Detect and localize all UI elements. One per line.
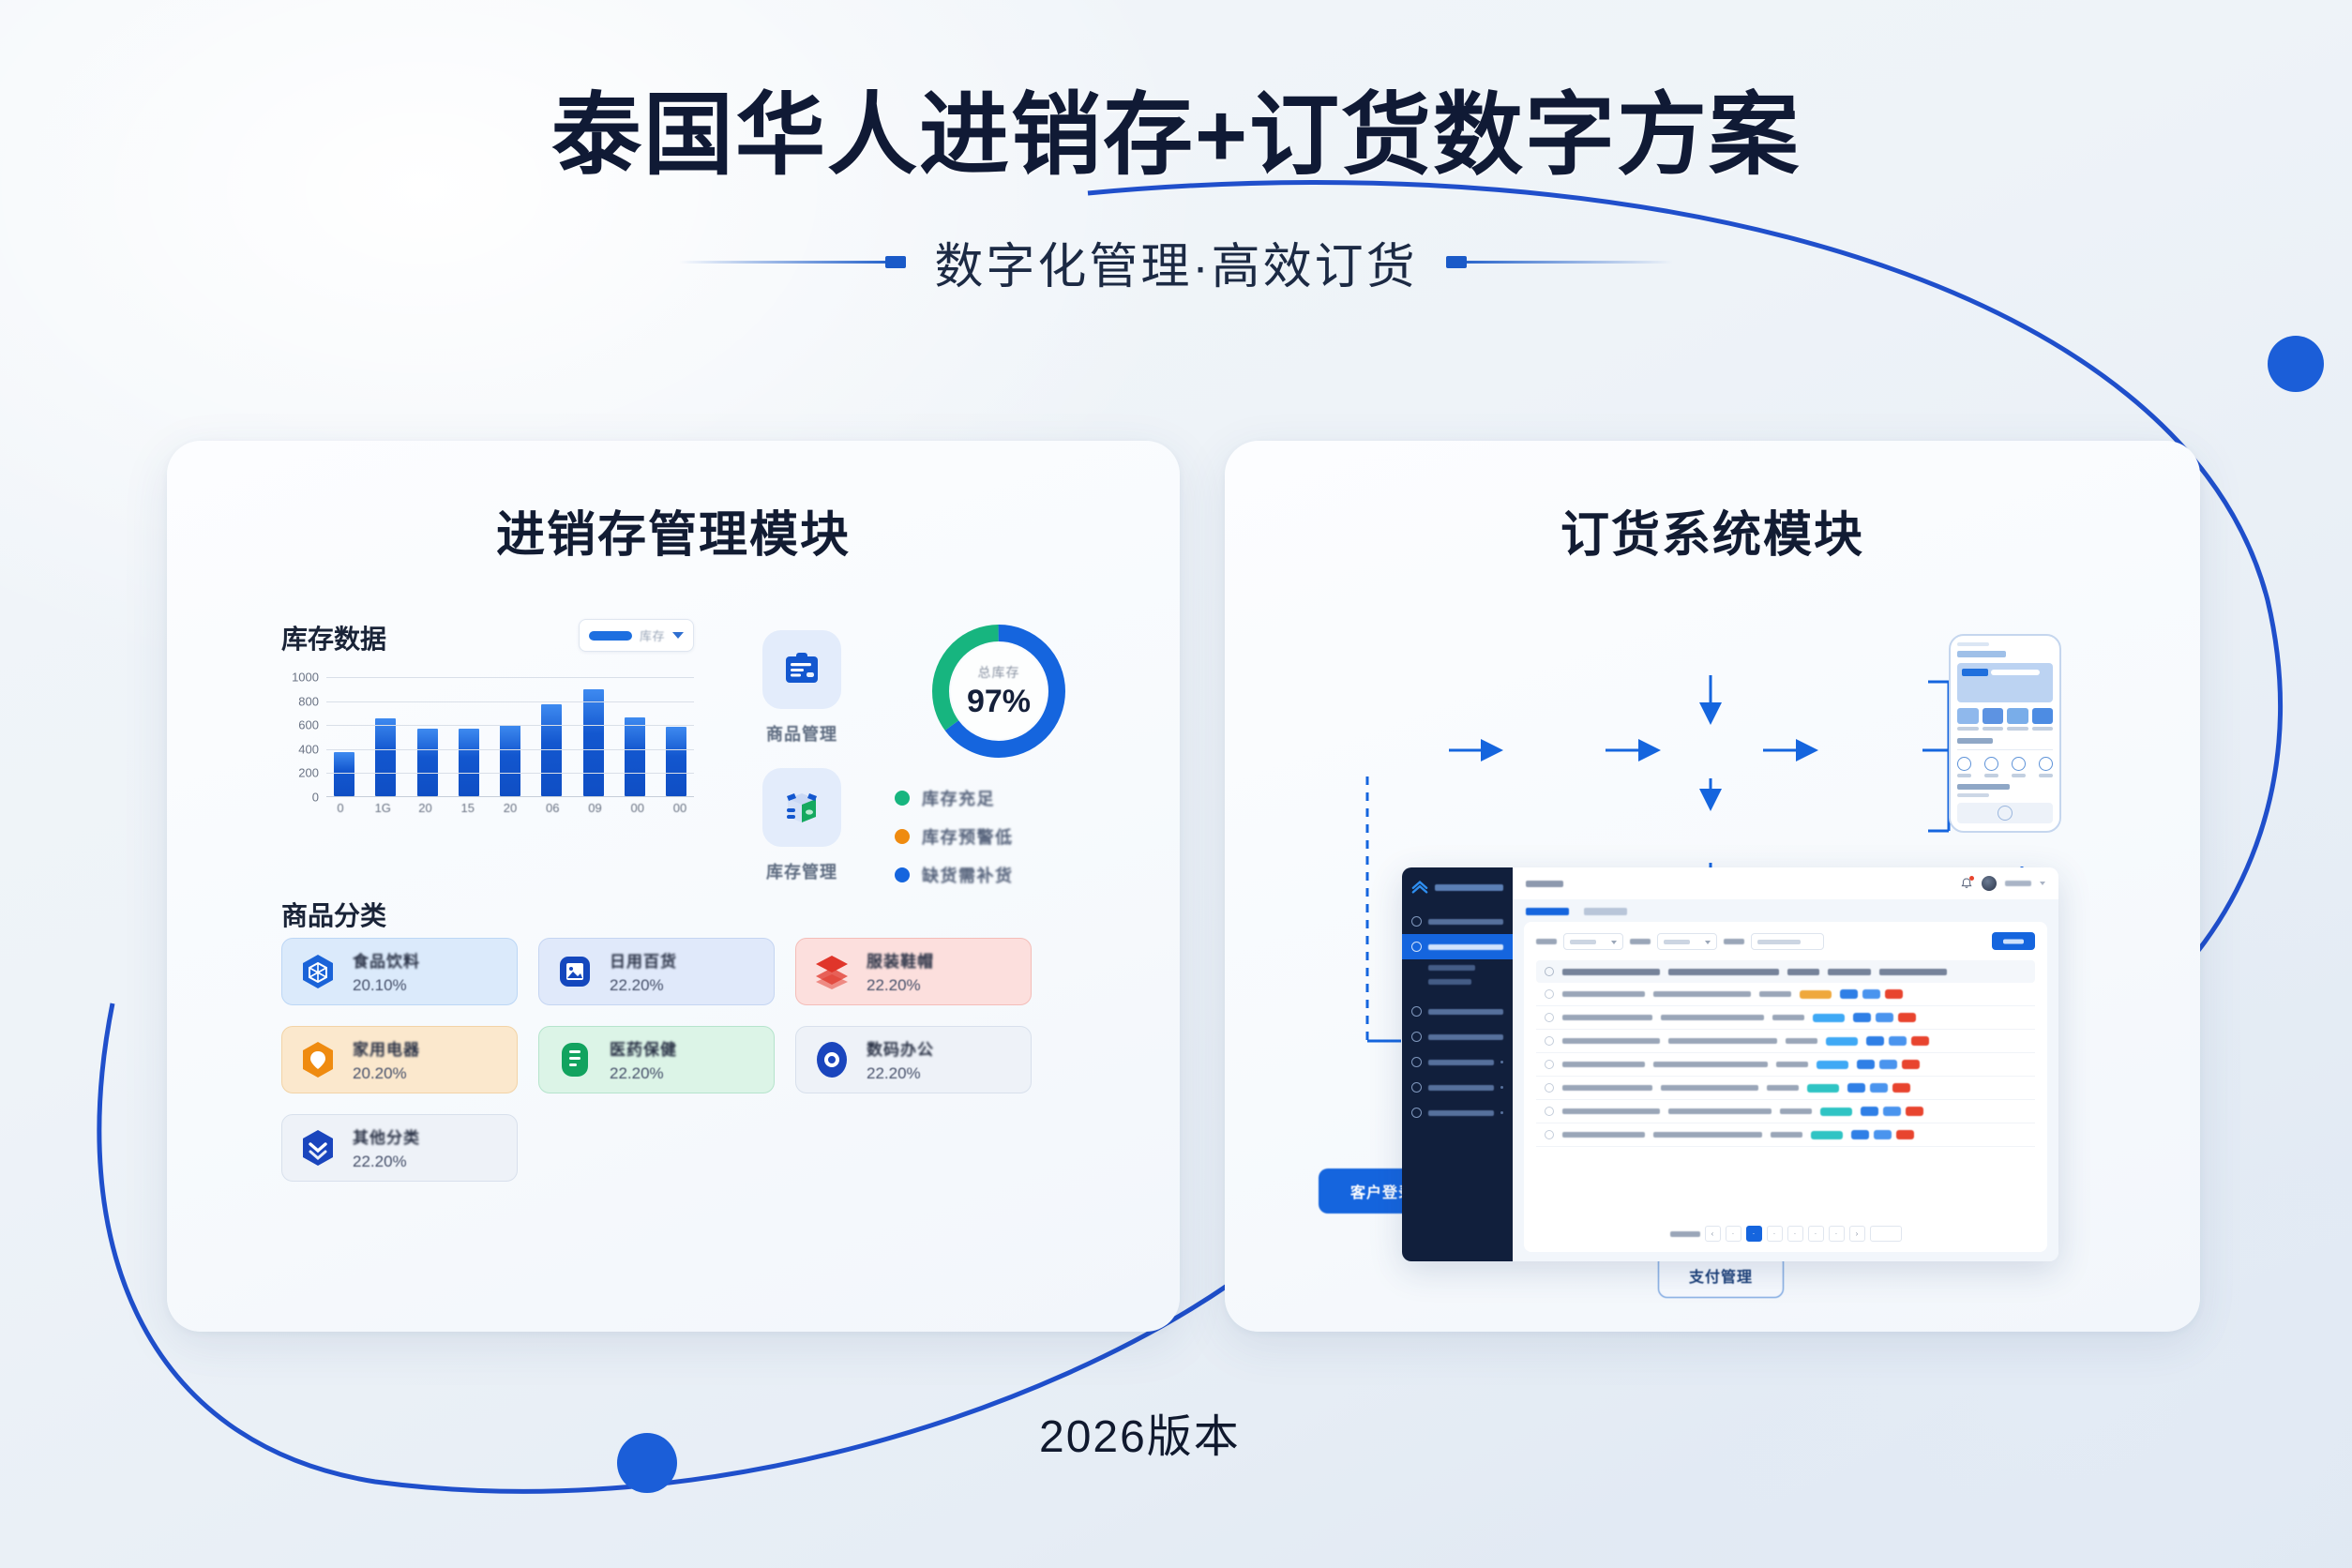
cell-qty: [1759, 991, 1791, 997]
phone-divider: [1957, 749, 2053, 750]
x-tick: 00: [627, 801, 648, 815]
donut-chart: 总库存 97%: [928, 621, 1069, 761]
version-label: 2026版本: [1039, 1399, 1241, 1465]
legend-dot: [895, 791, 910, 806]
cell-order-no: [1562, 1038, 1660, 1044]
dashboard-logo-text: [1435, 884, 1503, 891]
y-tick: 800: [298, 694, 319, 708]
sidebar-item-4[interactable]: [1402, 1049, 1513, 1075]
phone-footer-title: [1957, 784, 2010, 790]
row-action-button[interactable]: [1857, 1060, 1875, 1069]
x-tick: 09: [585, 801, 606, 815]
category-name: 服装鞋帽: [867, 948, 934, 972]
column-status: [1828, 969, 1871, 975]
filter-input-orderno[interactable]: [1751, 933, 1824, 950]
phone-tile-labels: [1957, 727, 2053, 731]
sidebar-item-label: [1428, 1034, 1503, 1040]
category-percentage: 22.20%: [353, 1153, 420, 1171]
categories-grid: 食品饮料20.10%日用百货22.20%服装鞋帽22.20%家用电器20.20%…: [281, 938, 1032, 1182]
chart-legend-dropdown[interactable]: 库存: [579, 619, 694, 652]
y-tick: 600: [298, 718, 319, 732]
legend-label: 缺货需补货: [922, 863, 1014, 887]
donut-legend: 库存充足库存预警低缺货需补货: [882, 786, 1116, 887]
table-row[interactable]: [1536, 1053, 2035, 1077]
tile-icon-box: [762, 630, 841, 709]
cell-actions: [1847, 1083, 1915, 1093]
legend-swatch: [589, 631, 632, 641]
column-qty: [1787, 969, 1819, 975]
legend-dot: [895, 867, 910, 882]
cell-actions: [1857, 1060, 1924, 1069]
row-checkbox[interactable]: [1545, 1013, 1554, 1022]
phone-header-text: [1957, 651, 2006, 657]
chart-bar[interactable]: [375, 718, 396, 796]
sidebar-item-label: [1428, 1085, 1494, 1091]
y-tick: 200: [298, 766, 319, 780]
x-tick: 20: [500, 801, 520, 815]
row-checkbox[interactable]: [1545, 1107, 1554, 1116]
row-action-button[interactable]: [1885, 989, 1903, 999]
category-text: 其他分类22.20%: [353, 1124, 420, 1171]
row-checkbox[interactable]: [1545, 989, 1554, 999]
donut-caption: 总库存: [978, 663, 1020, 682]
row-action-button[interactable]: [1851, 1130, 1869, 1139]
category-card[interactable]: 家用电器20.20%: [281, 1026, 518, 1093]
dashboard-menu: [1402, 909, 1513, 1125]
tile-product-manage[interactable]: 商品管理: [736, 630, 867, 746]
sidebar-item-5[interactable]: [1402, 1075, 1513, 1100]
cell-customer: [1653, 1062, 1768, 1067]
page-prev[interactable]: ‹: [1705, 1226, 1721, 1242]
category-text: 数码办公22.20%: [867, 1036, 934, 1083]
select-all-checkbox[interactable]: [1545, 967, 1554, 976]
search-button[interactable]: [1992, 932, 2035, 950]
row-action-button[interactable]: [1892, 1083, 1910, 1093]
sidebar-item-label: [1428, 1009, 1503, 1015]
cube-icon: [297, 951, 339, 992]
row-checkbox[interactable]: [1545, 1083, 1554, 1093]
x-axis-ticks: 01G20152006090000: [326, 801, 694, 815]
image-icon: [554, 951, 596, 992]
tab-pending[interactable]: [1584, 908, 1627, 915]
menu-icon: [1411, 1108, 1422, 1118]
chevron-right-icon: [1500, 1086, 1503, 1089]
tile-label: 商品管理: [766, 721, 837, 746]
cell-actions: [1861, 1107, 1928, 1116]
y-tick: 0: [312, 791, 319, 805]
category-name: 日用百货: [610, 948, 677, 972]
category-card[interactable]: 服装鞋帽22.20%: [795, 938, 1032, 1005]
admin-dashboard-mockup: ‹ · · · · · · ›: [1402, 867, 2058, 1261]
page-4[interactable]: ·: [1787, 1226, 1803, 1242]
cell-order-no: [1562, 1062, 1645, 1067]
donut-center: 总库存 97%: [951, 643, 1047, 739]
bell-icon[interactable]: [1960, 877, 1973, 890]
mobile-app-mockup: [1949, 634, 2061, 833]
donut-legend-item: 库存预警低: [895, 824, 1116, 849]
filter-select-status[interactable]: [1563, 933, 1623, 950]
menu-icon: [1411, 1082, 1422, 1093]
menu-icon: [1411, 1006, 1422, 1017]
x-tick: 06: [542, 801, 563, 815]
row-checkbox[interactable]: [1545, 1036, 1554, 1046]
row-action-button[interactable]: [1861, 1107, 1878, 1116]
inventory-chart-title: 库存数据: [281, 619, 386, 656]
row-action-button[interactable]: [1847, 1083, 1865, 1093]
subtitle-row: 数字化管理·高效订货: [0, 227, 2352, 297]
legend-label: 库存: [640, 626, 665, 644]
chart-bar[interactable]: [583, 689, 604, 796]
row-action-button[interactable]: [1889, 1036, 1907, 1046]
y-tick: 400: [298, 742, 319, 756]
row-action-button[interactable]: [1896, 1130, 1914, 1139]
donut-legend-item: 缺货需补货: [895, 863, 1116, 887]
category-text: 日用百货22.20%: [610, 948, 677, 995]
cell-customer: [1653, 1132, 1762, 1138]
row-action-button[interactable]: [1883, 1107, 1901, 1116]
chart-bar[interactable]: [625, 717, 645, 796]
legend-dot: [895, 829, 910, 844]
bar-series: [326, 677, 694, 796]
x-tick: 15: [458, 801, 478, 815]
category-text: 食品饮料20.10%: [353, 948, 420, 995]
category-text: 服装鞋帽22.20%: [867, 948, 934, 995]
layers-icon: [811, 951, 852, 992]
table-header-row: [1536, 960, 2035, 983]
page-jump[interactable]: [1870, 1226, 1902, 1242]
cell-actions: [1853, 1013, 1921, 1022]
page-6[interactable]: ·: [1829, 1226, 1845, 1242]
document-icon: [554, 1039, 596, 1080]
donut-legend-item: 库存充足: [895, 786, 1116, 810]
page-next[interactable]: ›: [1849, 1226, 1865, 1242]
x-tick: 0: [330, 801, 351, 815]
phone-tile[interactable]: [2007, 708, 2028, 724]
target-icon: [811, 1039, 852, 1080]
row-action-button[interactable]: [1840, 989, 1858, 999]
category-card[interactable]: 食品饮料20.10%: [281, 938, 518, 1005]
chevron-down-icon: [672, 632, 684, 639]
cell-order-no: [1562, 1015, 1652, 1020]
phone-tile[interactable]: [1983, 708, 2004, 724]
cell-order-no: [1562, 1132, 1645, 1138]
category-text: 家用电器20.20%: [353, 1036, 420, 1083]
open-box-icon: [780, 786, 823, 829]
sidebar-item-3[interactable]: [1402, 1024, 1513, 1049]
column-actions: [1879, 969, 1947, 975]
row-action-button[interactable]: [1911, 1036, 1929, 1046]
page-active[interactable]: ·: [1746, 1226, 1762, 1242]
inventory-chart-block: 库存数据 库存 02004006008001000 01G20152006090…: [281, 619, 694, 818]
cell-actions: [1851, 1130, 1919, 1139]
panel-inventory-title: 进销存管理模块: [167, 495, 1180, 565]
dashboard-username: [2005, 881, 2031, 886]
row-action-button[interactable]: [1876, 1013, 1893, 1022]
feature-tiles: 商品管理 库存管理: [736, 630, 867, 906]
page-3[interactable]: ·: [1767, 1226, 1783, 1242]
gridline: [326, 725, 694, 726]
row-action-button[interactable]: [1902, 1060, 1920, 1069]
phone-icon-row: [1957, 757, 2053, 771]
category-percentage: 22.20%: [867, 1064, 934, 1083]
dashboard-topbar: [1513, 867, 2058, 899]
sidebar-item-0[interactable]: [1402, 909, 1513, 934]
phone-notch: [1957, 642, 1989, 646]
cell-actions: [1840, 989, 1907, 999]
chart-bar[interactable]: [459, 729, 479, 796]
row-action-button[interactable]: [1870, 1083, 1888, 1093]
cell-customer: [1653, 991, 1751, 997]
chevron-right-icon: [1500, 1111, 1503, 1114]
table-pagination: ‹ · · · · · · ›: [1536, 1216, 2035, 1242]
page-5[interactable]: ·: [1808, 1226, 1824, 1242]
avatar[interactable]: [1982, 876, 1997, 891]
cell-order-no: [1562, 1085, 1652, 1091]
phone-footer-sub: [1957, 793, 1989, 797]
chart-plot-area: [326, 677, 694, 797]
cell-order-no: [1562, 991, 1645, 997]
phone-circle-icon[interactable]: [1984, 757, 1998, 771]
sidebar-submenu: [1402, 959, 1513, 999]
status-badge: [1813, 1014, 1845, 1022]
phone-home-indicator: [1957, 803, 2053, 823]
category-percentage: 22.20%: [610, 976, 677, 995]
cell-qty: [1771, 1132, 1802, 1138]
category-percentage: 22.20%: [867, 976, 934, 995]
sidebar-item-1[interactable]: [1402, 934, 1513, 959]
menu-icon: [1411, 1032, 1422, 1042]
table-row[interactable]: [1536, 1100, 2035, 1123]
row-action-button[interactable]: [1879, 1060, 1897, 1069]
row-action-button[interactable]: [1853, 1013, 1871, 1022]
status-badge: [1811, 1131, 1843, 1139]
x-tick: 00: [670, 801, 690, 815]
tile-icon-box: [762, 768, 841, 847]
diamond-icon: [297, 1039, 339, 1080]
page-subtitle: 数字化管理·高效订货: [934, 227, 1417, 297]
clipboard-icon: [780, 648, 823, 691]
gridline: [326, 677, 694, 678]
category-card[interactable]: 医药保健22.20%: [538, 1026, 775, 1093]
status-badge: [1800, 990, 1832, 999]
x-tick: 1G: [372, 801, 393, 815]
filter-label-status: [1536, 939, 1557, 944]
phone-tile[interactable]: [2032, 708, 2054, 724]
cell-customer: [1661, 1085, 1758, 1091]
table-row[interactable]: [1536, 983, 2035, 1006]
cell-customer: [1668, 1038, 1777, 1044]
phone-circle-icon[interactable]: [2039, 757, 2053, 771]
y-axis-ticks: 02004006008001000: [281, 677, 323, 797]
tile-label: 库存管理: [766, 859, 837, 883]
row-action-button[interactable]: [1906, 1107, 1923, 1116]
cell-qty: [1786, 1038, 1817, 1044]
cell-qty: [1772, 1015, 1804, 1020]
menu-icon: [1411, 942, 1422, 952]
menu-icon: [1411, 916, 1422, 927]
table-filters: [1536, 932, 2035, 950]
sidebar-item-label: [1428, 1060, 1494, 1065]
gridline: [326, 773, 694, 774]
cell-order-no: [1562, 1108, 1660, 1114]
status-badge: [1817, 1061, 1848, 1069]
submenu-item[interactable]: [1428, 979, 1471, 985]
category-card[interactable]: 其他分类22.20%: [281, 1114, 518, 1182]
chevron-box-icon: [297, 1127, 339, 1168]
column-order-no: [1562, 969, 1660, 975]
category-percentage: 22.20%: [610, 1064, 677, 1083]
category-name: 其他分类: [353, 1124, 420, 1148]
row-action-button[interactable]: [1866, 1036, 1884, 1046]
subtitle-rule-left: [679, 261, 902, 264]
chevron-down-icon[interactable]: [2040, 882, 2045, 885]
sidebar-item-6[interactable]: [1402, 1100, 1513, 1125]
page-1[interactable]: ·: [1726, 1226, 1741, 1242]
category-name: 家用电器: [353, 1036, 420, 1060]
category-name: 数码办公: [867, 1036, 934, 1060]
category-card[interactable]: 数码办公22.20%: [795, 1026, 1032, 1093]
submenu-item[interactable]: [1428, 965, 1475, 971]
subtitle-rule-right: [1450, 261, 1673, 264]
row-action-button[interactable]: [1862, 989, 1880, 999]
chevron-logo-icon: [1411, 879, 1428, 896]
page-header: 泰国华人进销存+订货数字方案 数字化管理·高效订货: [0, 84, 2352, 297]
inventory-chart-header: 库存数据 库存: [281, 619, 694, 656]
sidebar-item-label: [1428, 944, 1503, 950]
category-percentage: 20.20%: [353, 1064, 420, 1083]
dashboard-table-card: ‹ · · · · · · ›: [1524, 922, 2047, 1252]
dashboard-sidebar: [1402, 867, 1513, 1261]
category-card[interactable]: 日用百货22.20%: [538, 938, 775, 1005]
category-text: 医药保健22.20%: [610, 1036, 677, 1083]
cell-customer: [1661, 1015, 1764, 1020]
status-badge: [1826, 1037, 1858, 1046]
pagination-total: [1670, 1231, 1700, 1237]
table-row[interactable]: [1536, 1030, 2035, 1053]
inventory-bar-chart: 02004006008001000 01G20152006090000: [281, 677, 694, 818]
cell-qty: [1767, 1085, 1799, 1091]
y-tick: 1000: [292, 671, 319, 685]
dashboard-topbar-right: [1960, 876, 2045, 891]
donut-value: 97%: [967, 684, 1031, 720]
category-name: 食品饮料: [353, 948, 420, 972]
status-badge: [1807, 1084, 1839, 1093]
cell-qty: [1776, 1062, 1808, 1067]
table-body: [1536, 983, 2035, 1147]
row-checkbox[interactable]: [1545, 1060, 1554, 1069]
chart-bar[interactable]: [541, 704, 562, 796]
filter-select-payment[interactable]: [1657, 933, 1717, 950]
stock-donut-block: 总库存 97% 库存充足库存预警低缺货需补货: [882, 621, 1116, 901]
tab-all-orders[interactable]: [1526, 908, 1569, 915]
phone-section-title: [1957, 738, 1993, 744]
sidebar-item-label: [1428, 1110, 1494, 1116]
cell-qty: [1780, 1108, 1812, 1114]
cell-actions: [1866, 1036, 1934, 1046]
phone-tile[interactable]: [1957, 708, 1979, 724]
categories-title: 商品分类: [281, 896, 386, 933]
sidebar-item-2[interactable]: [1402, 999, 1513, 1024]
chart-bar[interactable]: [417, 729, 438, 796]
cell-customer: [1668, 1108, 1772, 1114]
gridline: [326, 749, 694, 750]
status-badge: [1820, 1108, 1852, 1116]
table-row[interactable]: [1536, 1006, 2035, 1030]
dashboard-tabs: [1513, 899, 2058, 922]
gridline: [326, 701, 694, 702]
row-checkbox[interactable]: [1545, 1130, 1554, 1139]
tile-stock-manage[interactable]: 库存管理: [736, 768, 867, 883]
phone-icon-labels: [1957, 774, 2053, 777]
legend-label: 库存预警低: [922, 824, 1014, 849]
column-customer: [1668, 969, 1779, 975]
filter-label-orderno: [1724, 939, 1744, 944]
legend-label: 库存充足: [922, 786, 995, 810]
phone-circle-icon[interactable]: [1957, 757, 1971, 771]
phone-category-tiles: [1957, 708, 2053, 724]
chart-bar[interactable]: [666, 727, 686, 796]
x-tick: 20: [415, 801, 436, 815]
row-action-button[interactable]: [1898, 1013, 1916, 1022]
dashboard-page-title: [1526, 881, 1563, 887]
sidebar-item-label: [1428, 919, 1503, 925]
menu-icon: [1411, 1057, 1422, 1067]
phone-circle-icon[interactable]: [2012, 757, 2026, 771]
page-title: 泰国华人进销存+订货数字方案: [0, 84, 2352, 188]
table-row[interactable]: [1536, 1123, 2035, 1147]
chart-bar[interactable]: [500, 725, 520, 796]
filter-label-payment: [1630, 939, 1651, 944]
phone-banner: [1957, 663, 2053, 702]
dashboard-logo: [1402, 879, 1513, 909]
category-name: 医药保健: [610, 1036, 677, 1060]
chevron-right-icon: [1500, 1061, 1503, 1063]
dashboard-main: ‹ · · · · · · ›: [1513, 867, 2058, 1261]
row-action-button[interactable]: [1874, 1130, 1892, 1139]
category-percentage: 20.10%: [353, 976, 420, 995]
table-row[interactable]: [1536, 1077, 2035, 1100]
